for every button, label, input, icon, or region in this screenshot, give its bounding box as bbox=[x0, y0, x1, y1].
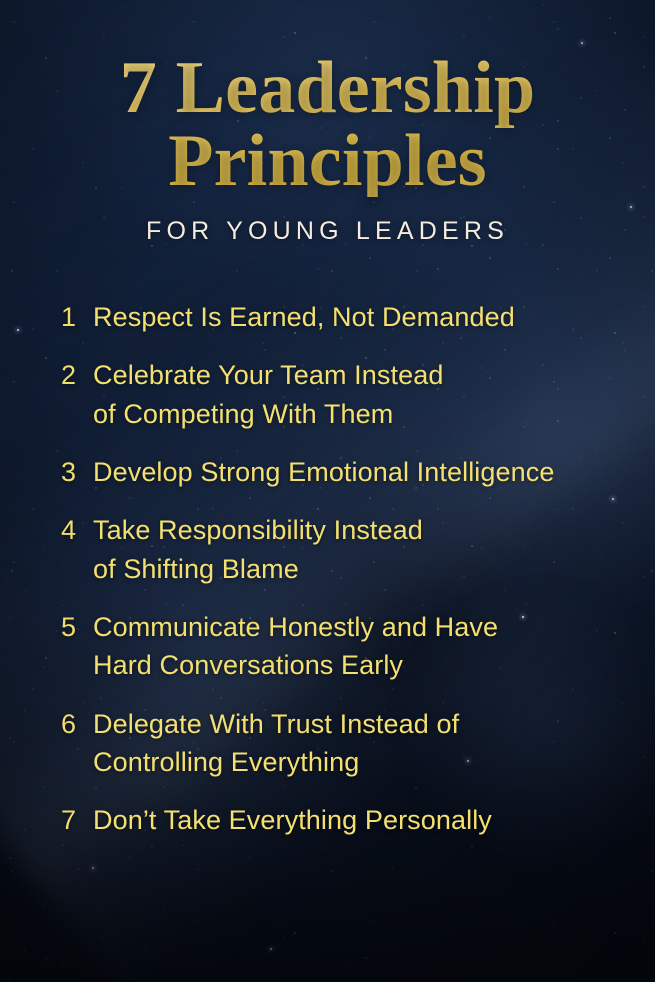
list-item-text: Don’t Take Everything Personally bbox=[93, 801, 615, 839]
list-item-number: 5 bbox=[56, 608, 76, 646]
list-item: 4 Take Responsibility Instead of Shiftin… bbox=[56, 511, 615, 588]
list-item-number: 4 bbox=[56, 511, 76, 549]
list-item-text: Respect Is Earned, Not Demanded bbox=[93, 298, 615, 336]
list-item-text: Communicate Honestly and Have Hard Conve… bbox=[93, 608, 615, 685]
list-item: 3 Develop Strong Emotional Intelligence bbox=[56, 453, 615, 491]
principles-list: 1 Respect Is Earned, Not Demanded 2 Cele… bbox=[0, 298, 655, 840]
title-line-2: Principles bbox=[0, 125, 655, 198]
list-item-number: 1 bbox=[56, 298, 76, 336]
list-item-number: 3 bbox=[56, 453, 76, 491]
page-subtitle: FOR YOUNG LEADERS bbox=[0, 217, 655, 246]
list-item: 7 Don’t Take Everything Personally bbox=[56, 801, 615, 839]
list-item-text: Take Responsibility Instead of Shifting … bbox=[93, 511, 615, 588]
list-item-text: Develop Strong Emotional Intelligence bbox=[93, 453, 615, 491]
list-item-number: 7 bbox=[56, 801, 76, 839]
list-item: 1 Respect Is Earned, Not Demanded bbox=[56, 298, 615, 336]
list-item-text: Delegate With Trust Instead of Controlli… bbox=[93, 705, 615, 782]
list-item: 5 Communicate Honestly and Have Hard Con… bbox=[56, 608, 615, 685]
title-block: 7 Leadership Principles FOR YOUNG LEADER… bbox=[0, 0, 655, 246]
page-title: 7 Leadership Principles bbox=[0, 52, 655, 197]
list-item: 6 Delegate With Trust Instead of Control… bbox=[56, 705, 615, 782]
list-item-text: Celebrate Your Team Instead of Competing… bbox=[93, 356, 615, 433]
poster: 7 Leadership Principles FOR YOUNG LEADER… bbox=[0, 0, 655, 982]
title-line-1: 7 Leadership bbox=[0, 52, 655, 125]
list-item: 2 Celebrate Your Team Instead of Competi… bbox=[56, 356, 615, 433]
poster-content: 7 Leadership Principles FOR YOUNG LEADER… bbox=[0, 0, 655, 982]
list-item-number: 6 bbox=[56, 705, 76, 743]
list-item-number: 2 bbox=[56, 356, 76, 394]
